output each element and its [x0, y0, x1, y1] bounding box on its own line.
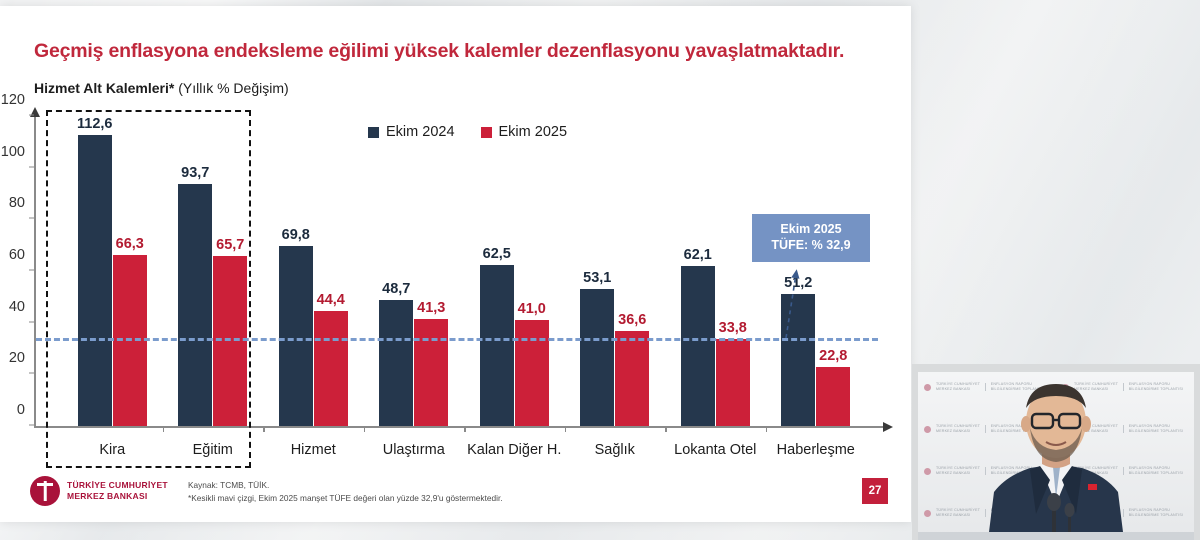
x-axis-category-label: Eğitim: [193, 442, 233, 458]
bar-group: 69,844,4Hizmet: [263, 114, 364, 426]
bar-value-label: 48,7: [382, 281, 410, 297]
bar-value-label: 22,8: [819, 348, 847, 364]
tcmb-logo-line-2: MERKEZ BANKASI: [67, 491, 168, 502]
bar-value-label: 36,6: [618, 312, 646, 328]
x-axis-tick-mark: [665, 426, 667, 432]
bar-value-label: 93,7: [181, 165, 209, 181]
bar-2024[interactable]: 62,5: [480, 265, 514, 426]
slide-title: Geçmiş enflasyona endeksleme eğilimi yük…: [34, 40, 844, 63]
bar-2025[interactable]: 33,8: [716, 339, 750, 426]
callout-box: Ekim 2025 TÜFE: % 32,9: [752, 214, 870, 262]
tcmb-logo-icon: [30, 476, 60, 506]
speaker-figure: [918, 372, 1194, 540]
bar-value-label: 66,3: [116, 236, 144, 252]
bar-2024[interactable]: 62,1: [681, 266, 715, 426]
callout-arrow-icon: [772, 266, 806, 340]
callout-line-1: Ekim 2025: [756, 221, 866, 237]
source-note: Kaynak: TCMB, TÜİK. *Kesikli mavi çizgi,…: [188, 479, 503, 505]
x-axis-arrow-icon: [883, 422, 893, 432]
y-axis-tick-mark: [29, 321, 34, 322]
bar-2025[interactable]: 22,8: [816, 367, 850, 426]
source-line-1: Kaynak: TCMB, TÜİK.: [188, 479, 503, 492]
y-axis-tick-label: 60: [9, 247, 25, 263]
legend-item[interactable]: Ekim 2025: [481, 124, 568, 140]
bar-group: 62,133,8Lokanta Otel: [665, 114, 766, 426]
video-frame: TÜRKİYE CUMHURİYETMERKEZ BANKASIENFLASYO…: [918, 372, 1194, 540]
bar-value-label: 53,1: [583, 270, 611, 286]
y-axis-tick-label: 20: [9, 350, 25, 366]
y-axis-tick-label: 80: [9, 195, 25, 211]
x-axis-tick-mark: [263, 426, 265, 432]
x-axis-category-label: Ulaştırma: [383, 442, 445, 458]
bar-value-label: 62,1: [684, 247, 712, 263]
bar-value-label: 44,4: [317, 292, 345, 308]
bar-2024[interactable]: 53,1: [580, 289, 614, 426]
y-axis-arrow-icon: [30, 107, 40, 117]
bar-2024[interactable]: 48,7: [379, 300, 413, 426]
bar-group: 112,666,3Kira: [62, 114, 163, 426]
x-axis-category-label: Hizmet: [291, 442, 336, 458]
bar-chart: 020406080100120 112,666,3Kira93,765,7Eği…: [34, 116, 884, 428]
page-number-badge: 27: [862, 478, 888, 504]
y-axis-tick-mark: [29, 115, 34, 116]
bar-value-label: 112,6: [77, 116, 113, 132]
x-axis-category-label: Haberleşme: [777, 442, 855, 458]
reference-line: [36, 338, 878, 341]
presentation-slide: Geçmiş enflasyona endeksleme eğilimi yük…: [0, 6, 911, 522]
x-axis-tick-mark: [766, 426, 768, 432]
bar-2024[interactable]: 112,6: [78, 135, 112, 426]
y-axis-tick-label: 120: [1, 92, 25, 108]
y-axis-tick-label: 40: [9, 299, 25, 315]
x-axis-category-label: Sağlık: [595, 442, 635, 458]
bar-value-label: 62,5: [483, 246, 511, 262]
y-axis-tick-mark: [29, 373, 34, 374]
x-axis-tick-mark: [364, 426, 366, 432]
bar-group: 62,541,0Kalan Diğer H.: [464, 114, 565, 426]
y-axis-tick-label: 0: [17, 402, 25, 418]
bar-group: 48,741,3Ulaştırma: [364, 114, 465, 426]
bar-value-label: 33,8: [719, 320, 747, 336]
bar-2025[interactable]: 44,4: [314, 311, 348, 426]
legend-label: Ekim 2025: [499, 124, 568, 140]
tcmb-logo-line-1: TÜRKİYE CUMHURİYET: [67, 480, 168, 491]
x-axis-category-label: Kalan Diğer H.: [467, 442, 561, 458]
y-axis-tick-label: 100: [1, 144, 25, 160]
tcmb-logo-text: TÜRKİYE CUMHURİYET MERKEZ BANKASI: [67, 480, 168, 502]
chart-legend: Ekim 2024Ekim 2025: [368, 124, 567, 140]
bar-2024[interactable]: 93,7: [178, 184, 212, 426]
x-axis: [34, 426, 884, 428]
bar-2025[interactable]: 41,3: [414, 319, 448, 426]
x-axis-tick-mark: [565, 426, 567, 432]
tcmb-logo: TÜRKİYE CUMHURİYET MERKEZ BANKASI: [30, 476, 168, 506]
bar-value-label: 41,3: [417, 300, 445, 316]
chart-subtitle: Hizmet Alt Kalemleri* (Yıllık % Değişim): [34, 80, 289, 96]
bar-group: 53,136,6Sağlık: [565, 114, 666, 426]
chart-subtitle-main: Hizmet Alt Kalemleri*: [34, 80, 174, 96]
callout-line-2: TÜFE: % 32,9: [756, 237, 866, 253]
y-axis: [34, 116, 36, 428]
legend-item[interactable]: Ekim 2024: [368, 124, 455, 140]
bar-value-label: 41,0: [518, 301, 546, 317]
bar-2025[interactable]: 41,0: [515, 320, 549, 426]
x-axis-category-label: Lokanta Otel: [674, 442, 756, 458]
bar-value-label: 69,8: [282, 227, 310, 243]
source-line-2: *Kesikli mavi çizgi, Ekim 2025 manşet TÜ…: [188, 492, 503, 505]
legend-swatch-icon: [481, 127, 492, 138]
bar-value-label: 65,7: [216, 237, 244, 253]
x-axis-tick-mark: [163, 426, 165, 432]
y-axis-tick-mark: [29, 218, 34, 219]
y-axis-tick-mark: [29, 270, 34, 271]
speaker-video-inset[interactable]: TÜRKİYE CUMHURİYETMERKEZ BANKASIENFLASYO…: [912, 364, 1200, 540]
legend-label: Ekim 2024: [386, 124, 455, 140]
legend-swatch-icon: [368, 127, 379, 138]
chart-subtitle-unit: (Yıllık % Değişim): [174, 80, 288, 96]
bar-2025[interactable]: 65,7: [213, 256, 247, 426]
y-axis-tick-mark: [29, 425, 34, 426]
x-axis-tick-mark: [464, 426, 466, 432]
x-axis-category-label: Kira: [99, 442, 125, 458]
bar-group: 93,765,7Eğitim: [163, 114, 264, 426]
y-axis-tick-mark: [29, 166, 34, 167]
bar-2025[interactable]: 36,6: [615, 331, 649, 426]
bar-2024[interactable]: 69,8: [279, 246, 313, 426]
